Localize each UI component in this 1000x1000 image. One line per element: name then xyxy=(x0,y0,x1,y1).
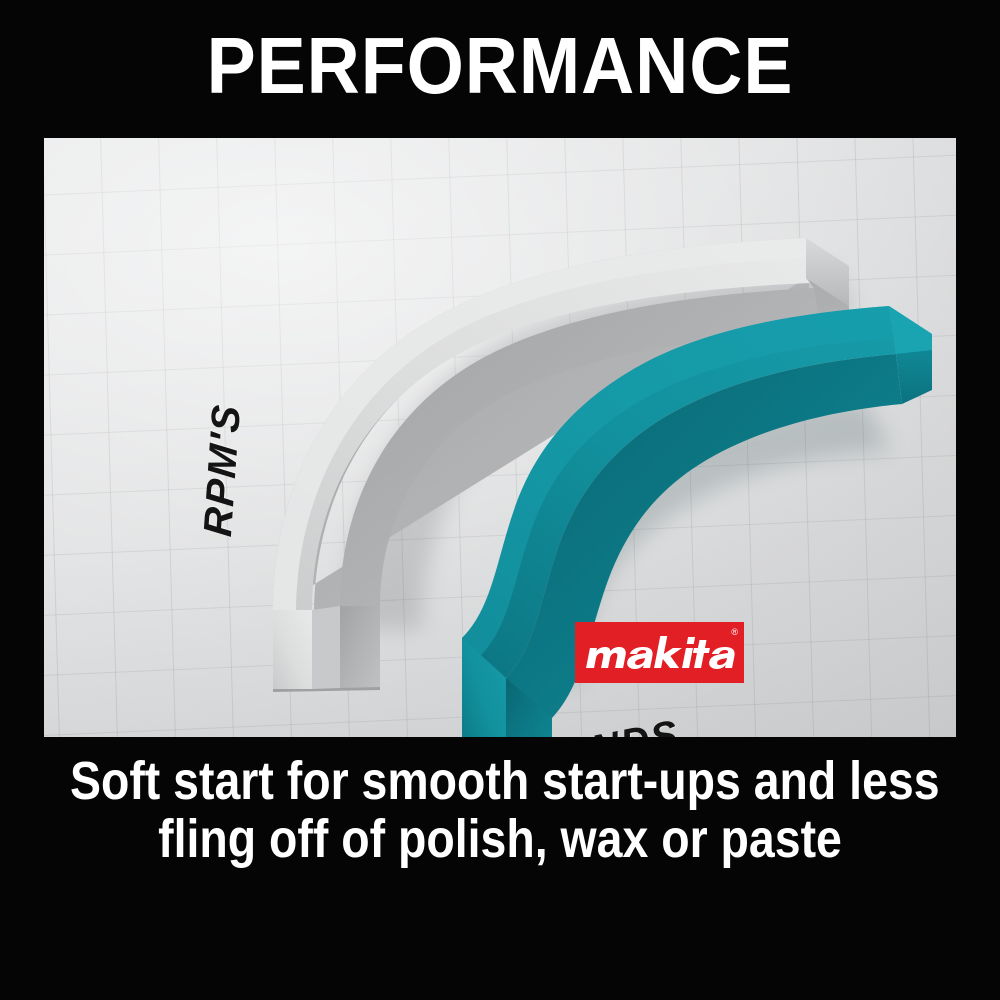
caption: Soft start for smooth start-ups and less… xyxy=(70,752,930,868)
performance-poster: PERFORMANCE xyxy=(0,0,1000,1000)
chart-ribbons xyxy=(44,138,956,737)
makita-wordmark-icon xyxy=(575,622,744,683)
caption-line-2: fling off of polish, wax or paste xyxy=(70,810,930,868)
page-title: PERFORMANCE xyxy=(40,22,960,110)
registered-trademark-icon: ® xyxy=(731,628,738,637)
makita-logo: ® xyxy=(575,622,744,683)
y-axis-label: RPM'S xyxy=(196,402,250,539)
chart-panel: RPM'S SECONDS xyxy=(44,138,956,737)
caption-line-1: Soft start for smooth start-ups and less xyxy=(70,752,930,810)
